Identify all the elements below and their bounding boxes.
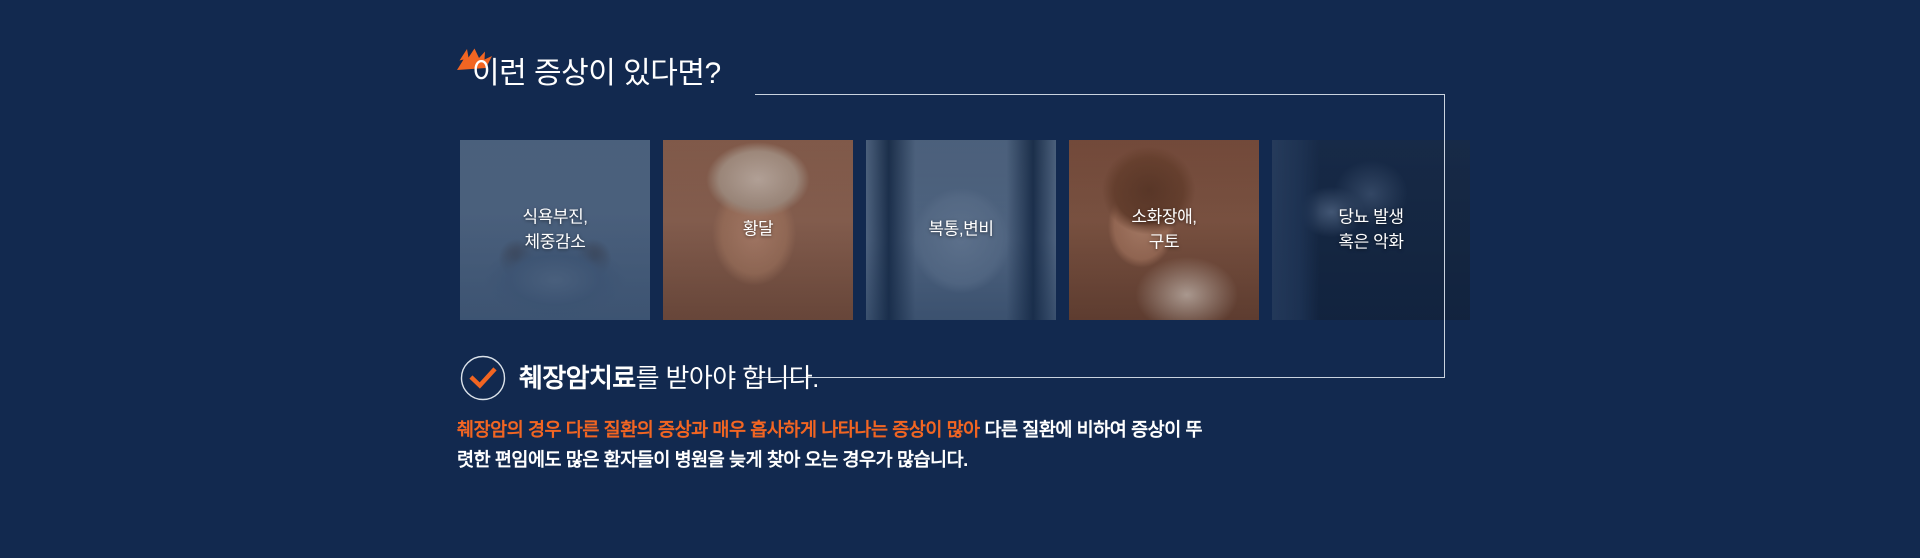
page-title: 이런 증상이 있다면?: [472, 59, 721, 89]
symptom-card[interactable]: 복통,변비: [866, 140, 1056, 320]
symptom-card-label: 당뇨 발생 혹은 악화: [1272, 205, 1470, 254]
symptom-card-label: 복통,변비: [866, 218, 1056, 243]
paragraph-highlight: 췌장암의 경우 다른 질환의 증상과 매우 흡사하게 나타나는 증상이 많아: [457, 419, 980, 440]
symptom-card-list: 식욕부진, 체중감소 황달 복통,변비 소화장애, 구토 당뇨 발생 혹은 악화: [460, 140, 1462, 320]
conclusion-rest: 를 받아야 합니다.: [636, 363, 819, 393]
symptom-card-label: 황달: [663, 218, 853, 243]
conclusion-strong: 췌장암치료: [519, 363, 636, 393]
conclusion-heading: 췌장암치료를 받아야 합니다.: [460, 355, 819, 401]
symptom-infographic: 이런 증상이 있다면? 식욕부진, 체중감소 황달 복통,변비 소화장애, 구토…: [0, 0, 1920, 558]
symptom-card[interactable]: 식욕부진, 체중감소: [460, 140, 650, 320]
symptom-card-label: 식욕부진, 체중감소: [460, 205, 650, 254]
symptom-card[interactable]: 당뇨 발생 혹은 악화: [1272, 140, 1470, 320]
symptom-card[interactable]: 황달: [663, 140, 853, 320]
check-circle-icon: [460, 355, 506, 401]
symptom-card[interactable]: 소화장애, 구토: [1069, 140, 1259, 320]
description-paragraph: 췌장암의 경우 다른 질환의 증상과 매우 흡사하게 나타나는 증상이 많아 다…: [457, 415, 1217, 475]
conclusion-text: 췌장암치료를 받아야 합니다.: [519, 365, 819, 391]
symptom-card-label: 소화장애, 구토: [1069, 205, 1259, 254]
